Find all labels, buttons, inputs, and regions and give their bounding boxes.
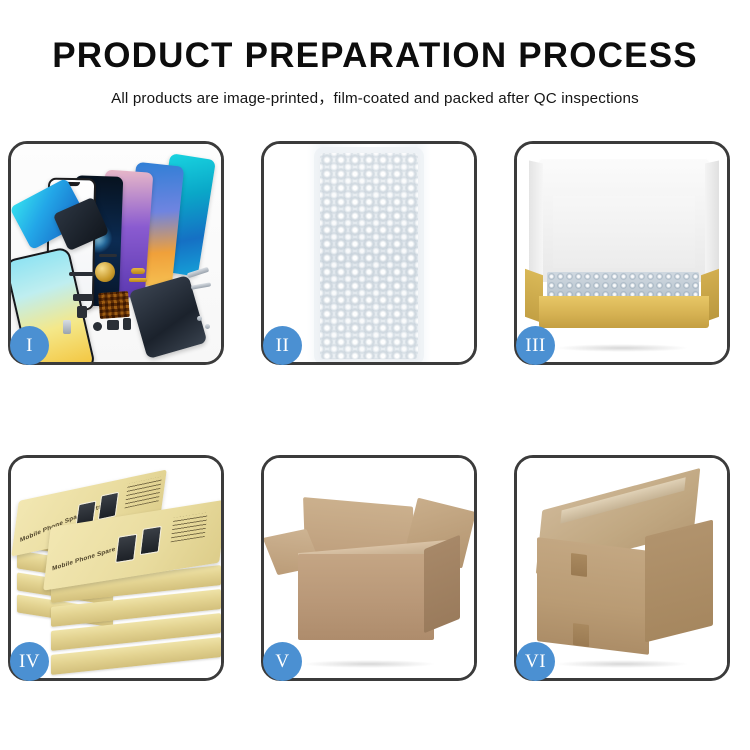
carton-front-panel (298, 554, 434, 640)
page-subtitle: All products are image-printed，film-coat… (0, 75, 750, 108)
screw-icon (197, 316, 202, 321)
spare-part-icon (63, 320, 71, 334)
process-step-grid: I II III (8, 141, 730, 681)
drop-shadow (302, 660, 436, 668)
spec-list-print (125, 476, 162, 508)
page-header: PRODUCT PREPARATION PROCESS All products… (0, 0, 750, 108)
step-numeral-badge: III (516, 326, 555, 365)
page-title: PRODUCT PREPARATION PROCESS (0, 0, 750, 75)
step-numeral-badge: IV (10, 642, 49, 681)
process-step-panel-4: Mobile Phone Spare Parts Mobile Phone Sp… (8, 455, 224, 681)
drop-shadow (555, 660, 689, 668)
phone-print-icon (140, 526, 162, 556)
process-step-panel-3: III (514, 141, 730, 365)
phone-products-scene (11, 144, 221, 362)
step-numeral-badge: V (263, 642, 302, 681)
spare-part-icon (69, 272, 95, 276)
spare-part-icon (73, 294, 93, 301)
sealed-carton-scene (517, 458, 727, 678)
step-numeral-badge: I (10, 326, 49, 365)
spec-list-print (171, 513, 208, 543)
screwdriver-icon (191, 282, 211, 289)
spare-part-icon (131, 268, 145, 274)
process-step-panel-1: I (8, 141, 224, 365)
step-5-image (264, 458, 474, 678)
spare-part-icon (93, 322, 102, 331)
spare-part-icon (77, 306, 87, 318)
open-carton-scene (264, 458, 474, 678)
inner-box-scene (517, 144, 727, 362)
phone-print-icon (115, 534, 137, 564)
box-front-panel (539, 296, 709, 328)
phone-print-icon (98, 492, 119, 521)
drop-shadow (555, 344, 689, 352)
step-4-image: Mobile Phone Spare Parts Mobile Phone Sp… (11, 458, 221, 678)
carton-front-panel (537, 537, 649, 655)
box-inner-panel (553, 196, 695, 268)
chip-array-icon (98, 291, 130, 319)
process-step-panel-2: II (261, 141, 477, 365)
carton-flap-seam (573, 623, 589, 647)
process-step-panel-6: VI (514, 455, 730, 681)
spare-part-icon (123, 318, 131, 330)
bubble-wrap-scene (264, 144, 474, 362)
spare-part-icon (129, 278, 147, 282)
spare-part-icon (99, 254, 117, 257)
screw-icon (205, 324, 210, 329)
step-1-image (11, 144, 221, 362)
vibration-motor-icon (95, 262, 115, 282)
carton-side-panel (645, 520, 713, 643)
stacked-boxes-scene: Mobile Phone Spare Parts Mobile Phone Sp… (11, 458, 221, 678)
step-2-image (264, 144, 474, 362)
step-6-image (517, 458, 727, 678)
step-3-image (517, 144, 727, 362)
step-numeral-badge: II (263, 326, 302, 365)
carton-flap-seam (571, 553, 587, 577)
bubble-wrap-icon (320, 153, 418, 359)
carton-side-panel (424, 535, 460, 634)
step-numeral-badge: VI (516, 642, 555, 681)
spare-part-icon (107, 320, 119, 330)
process-step-panel-5: V (261, 455, 477, 681)
